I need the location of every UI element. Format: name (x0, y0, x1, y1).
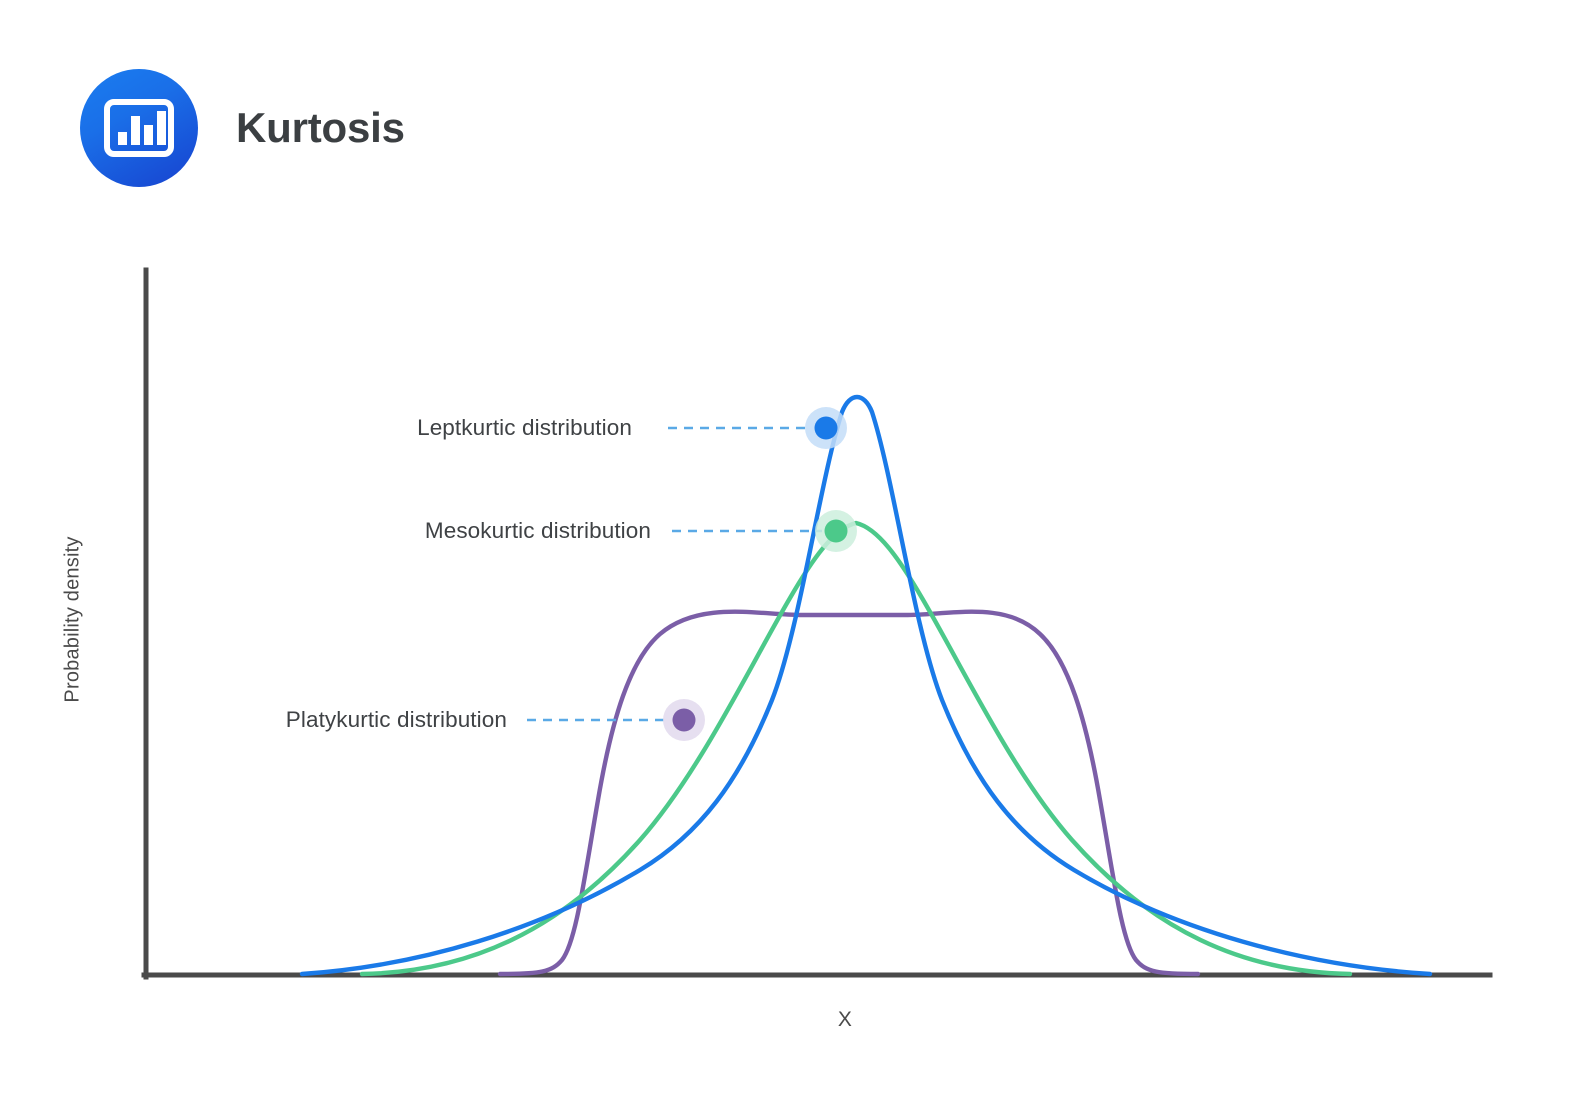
kurtosis-chart: Probability density X Leptkurtic distrib… (0, 0, 1590, 1108)
curve-mesokurtic (362, 523, 1350, 974)
series-label-mesokurtic: Mesokurtic distribution (0, 518, 651, 544)
leader-lines (527, 428, 822, 720)
marker-leptokurtic (805, 407, 847, 449)
series-label-leptokurtic: Leptkurtic distribution (0, 415, 632, 441)
chart-axes (144, 270, 1490, 977)
curve-platykurtic (500, 612, 1198, 974)
curve-leptokurtic (302, 397, 1430, 974)
series-label-platykurtic: Platykurtic distribution (0, 707, 507, 733)
x-axis-label: X (0, 1008, 1590, 1032)
marker-platykurtic (663, 699, 705, 741)
kurtosis-infographic: Kurtosis (0, 0, 1590, 1108)
marker-mesokurtic (815, 510, 857, 552)
